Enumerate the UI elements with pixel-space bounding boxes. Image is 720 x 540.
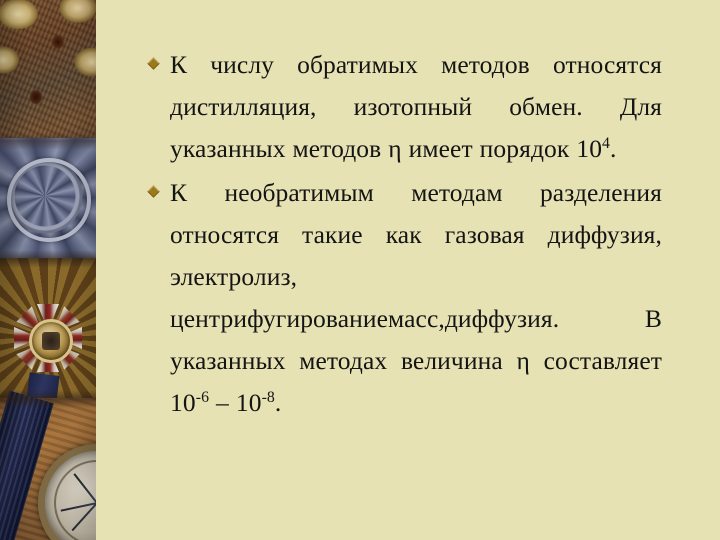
bullet-1-segment-1: . <box>610 134 616 163</box>
cross-center-medallion <box>29 319 73 363</box>
slide-body: К числу обратимых методов относятся дист… <box>148 44 662 426</box>
presentation-slide: К числу обратимых методов относятся дист… <box>0 0 720 540</box>
compass-photo-section <box>0 398 96 540</box>
medal-ring <box>7 158 91 242</box>
bullet-2-segment-2: . <box>275 388 281 417</box>
bullet-1-superscript-0: 4 <box>602 135 610 152</box>
bullet-2-superscript-1: -8 <box>262 389 275 406</box>
bullet-2-superscript-0: -6 <box>196 389 209 406</box>
bullet-2-segment-1: – 10 <box>209 388 262 417</box>
bullet-2-segment-0: К необратимым методам разделения относят… <box>170 178 662 417</box>
bullet-text-2: К необратимым методам разделения относят… <box>170 172 662 424</box>
coins-photo-section <box>0 0 96 150</box>
diamond-bullet-icon <box>147 185 160 198</box>
list-item: К необратимым методам разделения относят… <box>148 172 662 424</box>
diamond-bullet-icon <box>147 57 160 70</box>
bullet-1-segment-0: К числу обратимых методов относятся дист… <box>170 50 662 163</box>
compass-icon <box>38 444 96 540</box>
bullet-text-1: К числу обратимых методов относятся дист… <box>170 44 662 170</box>
list-item: К числу обратимых методов относятся дист… <box>148 44 662 170</box>
decorative-photo-strip <box>0 0 96 540</box>
